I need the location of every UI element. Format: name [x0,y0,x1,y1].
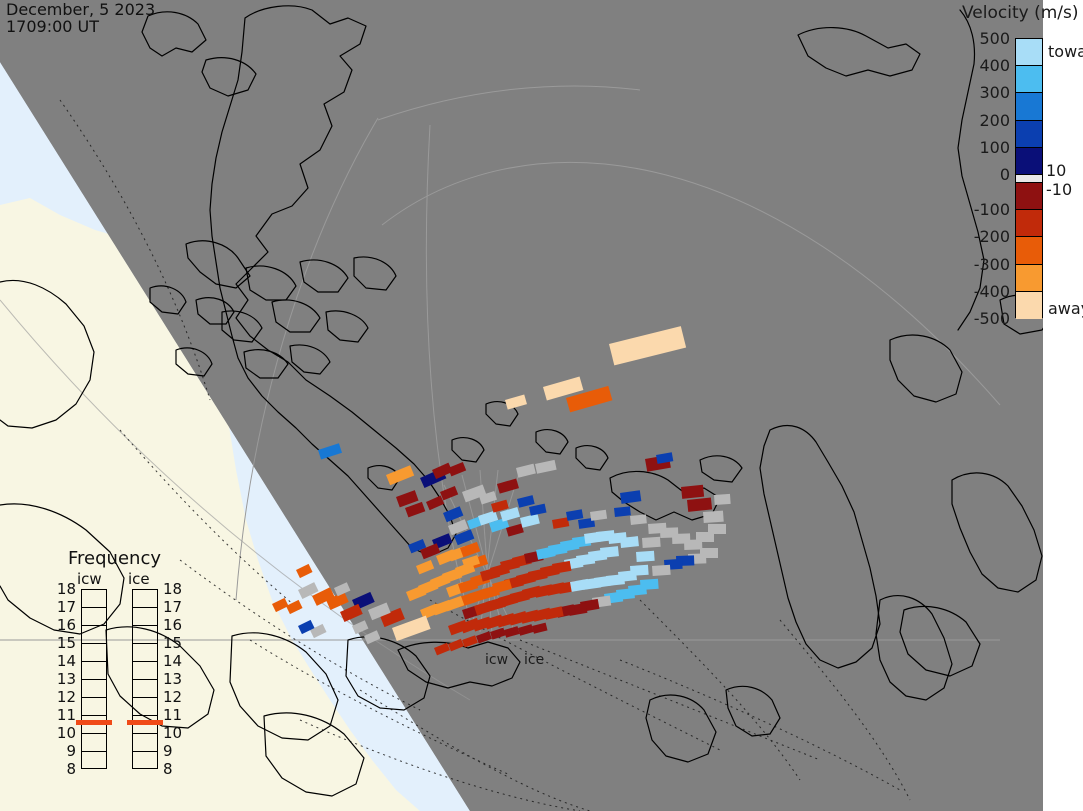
radar-cell [708,524,726,534]
frequency-tick-label: 9 [163,742,173,760]
radar-cell [532,623,548,634]
frequency-cell [82,680,106,698]
radar-cell [416,560,434,574]
frequency-tick-label: 18 [52,580,76,598]
radar-cell [505,394,527,409]
frequency-cell [82,662,106,680]
frequency-cell [82,590,106,608]
colorbar-segment [1016,121,1042,148]
radar-cell [448,462,466,476]
radar-cell [426,495,444,510]
colorbar-segment [1016,93,1042,120]
colorbar-tick-label: 200 [958,111,1010,130]
frequency-cell [133,626,157,644]
radar-cell [620,536,639,548]
colorbar-tick-label: -200 [958,227,1010,246]
colorbar-zero-upper-label: 10 [1046,161,1066,180]
frequency-tick-label: 16 [52,616,76,634]
colorbar-segment [1016,183,1042,210]
radar-cell [334,582,350,596]
frequency-cell [133,734,157,752]
frequency-cell [82,644,106,662]
frequency-cell [82,626,106,644]
radar-cell [687,497,712,511]
colorbar-tick-label: 100 [958,138,1010,157]
frequency-cell [133,698,157,716]
frequency-tick-label: 15 [52,634,76,652]
frequency-column-label-icw: icw [77,570,102,588]
frequency-tick-label: 14 [163,652,182,670]
colorbar-segment [1016,292,1042,319]
radar-cell [703,511,724,523]
radar-cell [681,485,704,499]
colorbar-tick-label: 400 [958,56,1010,75]
frequency-tick-label: 17 [163,598,182,616]
date-text: December, 5 2023 [6,1,155,18]
frequency-tick-label: 17 [52,598,76,616]
site-label-icw: icw [485,652,508,668]
radar-cell [272,598,289,612]
radar-cell [462,635,478,647]
colorbar-away-label: away [1048,299,1083,318]
colorbar-tick-label: -400 [958,282,1010,301]
frequency-cell [133,680,157,698]
colorbar-tick-label: -500 [958,309,1010,328]
colorbar-panel [1043,0,1083,811]
radar-cell [386,465,414,485]
radar-cell [364,630,380,644]
radar-cell [642,537,661,548]
frequency-column-label-ice: ice [128,570,150,588]
radar-cell [340,604,363,622]
frequency-cell [133,752,157,770]
frequency-tick-label: 8 [52,760,76,778]
radar-cell [620,490,641,504]
radar-cell [630,514,647,525]
frequency-tick-label: 16 [163,616,182,634]
frequency-tick-label: 13 [52,670,76,688]
frequency-cell [133,590,157,608]
colorbar-segment [1016,265,1042,292]
frequency-tick-label: 10 [52,724,76,742]
frequency-tick-label: 14 [52,652,76,670]
colorbar-tick-label: 0 [958,165,1010,184]
frequency-bar-icw [81,589,107,769]
radar-cell [497,478,519,493]
frequency-legend-title: Frequency [68,548,161,569]
frequency-marker-ice [127,720,163,725]
radar-cell [636,551,655,562]
frequency-cell [133,644,157,662]
colorbar-tick-label: -100 [958,200,1010,219]
colorbar-segment [1016,237,1042,264]
frequency-cell [82,698,106,716]
radar-cell [529,504,547,516]
radar-cell [535,460,557,474]
radar-cell [406,585,426,601]
frequency-cell [133,608,157,626]
radar-cell [652,565,671,576]
velocity-colorbar [1015,38,1043,318]
radar-cell [352,620,368,634]
radar-cell [440,486,458,500]
radar-cell [614,506,631,517]
colorbar-segment [1016,175,1042,183]
colorbar-segment [1016,148,1042,175]
colorbar-segment [1016,66,1042,93]
radar-cell [656,452,673,464]
frequency-tick-label: 9 [52,742,76,760]
frequency-tick-label: 8 [163,760,173,778]
frequency-tick-label: 18 [163,580,182,598]
timestamp-block: December, 5 2023 1709:00 UT [6,1,155,35]
frequency-cell [82,752,106,770]
colorbar-segment [1016,210,1042,237]
colorbar-toward-label: toward [1048,42,1083,61]
site-label-ice: ice [524,652,544,668]
frequency-tick-label: 10 [163,724,182,742]
colorbar-tick-label: 500 [958,29,1010,48]
radar-cell [630,565,649,576]
radar-cell [318,443,342,459]
frequency-marker-icw [76,720,112,725]
radar-cell [448,620,468,636]
time-text: 1709:00 UT [6,18,155,35]
radar-cell [434,643,450,656]
frequency-bar-ice [132,589,158,769]
colorbar-segment [1016,39,1042,66]
radar-cell [476,631,492,643]
frequency-tick-label: 12 [52,688,76,706]
superdarn-velocity-map: icw ice December, 5 2023 1709:00 UT Velo… [0,0,1083,811]
frequency-tick-label: 11 [163,706,182,724]
frequency-tick-label: 13 [163,670,182,688]
frequency-cell [82,608,106,626]
frequency-tick-label: 11 [52,706,76,724]
colorbar-tick-label: 300 [958,83,1010,102]
frequency-tick-label: 15 [163,634,182,652]
colorbar-zero-lower-label: -10 [1046,180,1072,199]
colorbar-title: Velocity (m/s) [962,3,1079,23]
frequency-cell [133,662,157,680]
frequency-cell [82,734,106,752]
radar-cell [516,464,536,478]
radar-cell [448,639,464,652]
radar-cell [296,564,313,578]
radar-cell [590,510,607,521]
radar-cell [714,494,731,505]
colorbar-tick-label: -300 [958,255,1010,274]
radar-cell [609,326,686,365]
frequency-tick-label: 12 [163,688,182,706]
radar-cell [286,600,303,614]
